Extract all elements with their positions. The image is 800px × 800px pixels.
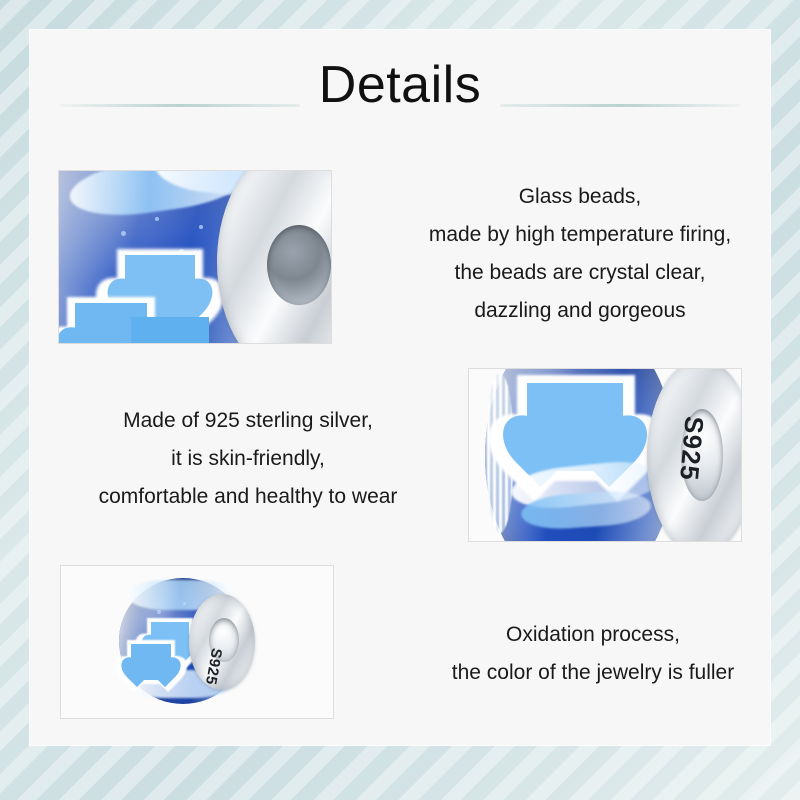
text-line: the color of the jewelry is fuller (428, 654, 758, 692)
text-block-sterling-silver: Made of 925 sterling silver, it is skin-… (52, 402, 444, 516)
text-line: Made of 925 sterling silver, (52, 402, 444, 440)
text-line: the beads are crystal clear, (410, 254, 750, 292)
text-block-oxidation: Oxidation process, the color of the jewe… (428, 616, 758, 692)
hallmark-stamp-2: S925 (673, 415, 710, 482)
photo-inner-1 (59, 171, 331, 343)
title-rule-right (500, 104, 740, 107)
bead-illustration-2: S925 (469, 369, 741, 541)
sparkle (157, 610, 161, 614)
text-line: it is skin-friendly, (52, 440, 444, 478)
product-photo-hallmark[interactable]: S925 (468, 368, 742, 542)
sparkle (121, 231, 126, 236)
text-line: dazzling and gorgeous (410, 292, 750, 330)
photo-inner-3: S925 (61, 566, 333, 718)
sparkle (199, 225, 203, 229)
heart-fill (131, 644, 171, 680)
heart-core (131, 644, 171, 680)
page-header: Details (30, 54, 770, 124)
text-line: Glass beads, (410, 178, 750, 216)
bead-illustration-1 (59, 171, 331, 343)
heart-fill (527, 383, 623, 471)
bead-illustration-3: S925 (61, 566, 333, 718)
content-panel: Details (30, 30, 770, 745)
product-detail-page: Details (0, 0, 800, 800)
text-block-glass-beads: Glass beads, made by high temperature fi… (410, 178, 750, 330)
photo-inner-2: S925 (469, 369, 741, 541)
product-photo-full[interactable]: S925 (60, 565, 334, 719)
heart-core (131, 317, 209, 344)
heart-core (527, 383, 623, 471)
sparkle (155, 217, 159, 221)
text-line: Oxidation process, (428, 616, 758, 654)
heart-fill (131, 317, 209, 344)
core-hole-1 (267, 225, 331, 305)
product-photo-closeup[interactable] (58, 170, 332, 344)
text-line: made by high temperature firing, (410, 216, 750, 254)
text-line: comfortable and healthy to wear (52, 478, 444, 516)
